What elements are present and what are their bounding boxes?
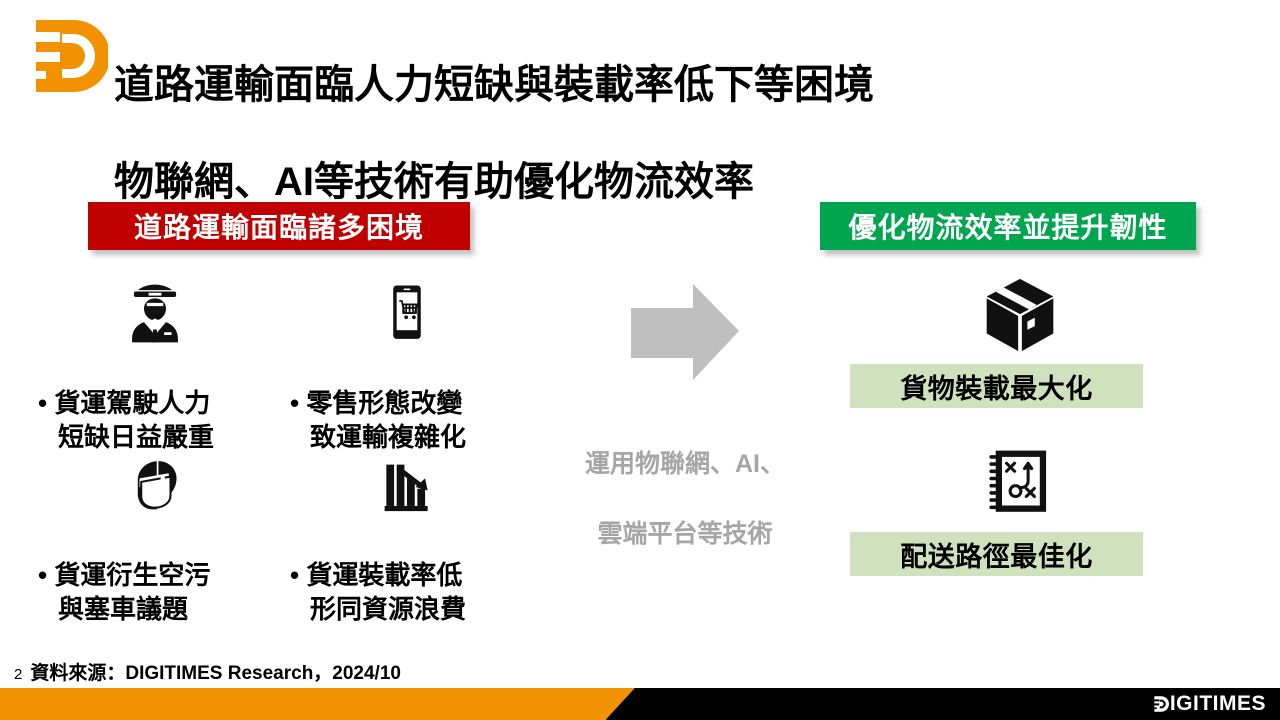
solution-label: 貨物裝載最大化 [850,364,1143,408]
footer-brand-logo: IGITIMES [1152,692,1266,716]
solution-item: 配送路徑最佳化 [850,440,1190,576]
truck-driver-icon [30,272,280,346]
solutions-banner-label: 優化物流效率並提升韌性 [848,206,1167,246]
problem-text-line-1: • 貨運裝載率低 [290,560,462,590]
page-number: 2 [14,666,22,683]
problem-text: • 貨運裝載率低 形同資源浪費 [282,526,532,659]
problem-item: • 貨運駕駛人力 短缺日益嚴重 [30,272,280,442]
solution-label-text: 配送路徑最佳化 [900,535,1093,574]
slide-header: 道路運輸面臨人力短缺與裝載率低下等困境 物聯網、AI等技術有助優化物流效率 [0,0,1280,130]
transition-caption-line-2: 雲端平台等技術 [597,520,772,548]
problems-banner-label: 道路運輸面臨諸多困境 [134,206,424,246]
solution-item: 貨物裝載最大化 [850,272,1190,408]
problems-banner: 道路運輸面臨諸多困境 [88,202,470,250]
package-box-icon [850,272,1190,358]
smartphone-shopping-cart-icon [282,272,532,346]
footer-bar: IGITIMES [0,688,1280,720]
problems-grid: • 貨運駕駛人力 短缺日益嚴重 [20,272,540,612]
digitimes-d-logo-icon [22,12,108,100]
solution-label: 配送路徑最佳化 [850,532,1143,576]
solution-label-text: 貨物裝載最大化 [900,367,1093,406]
solutions-banner: 優化物流效率並提升韌性 [820,202,1196,250]
route-optimization-icon [850,440,1190,526]
problem-text-line-1: • 零售形態改變 [290,388,462,418]
problem-text: • 貨運衍生空污 與塞車議題 [30,526,280,659]
problem-item: • 貨運衍生空污 與塞車議題 [30,444,280,614]
problem-item: • 貨運裝載率低 形同資源浪費 [282,444,532,614]
transition-caption: 運用物聯網、AI、 雲端平台等技術 [560,412,810,552]
face-mask-icon [30,444,280,518]
problem-text-line-2: 與塞車議題 [38,593,280,626]
footer-brand-text: IGITIMES [1170,692,1266,716]
declining-bar-chart-icon [282,444,532,518]
source-text: 資料來源：DIGITIMES Research，2024/10 [30,658,401,685]
problem-text-line-1: • 貨運衍生空污 [38,560,210,590]
problem-item: • 零售形態改變 致運輸複雜化 [282,272,532,442]
transition-caption-line-1: 運用物聯網、AI、 [585,450,785,478]
transition-block: 運用物聯網、AI、 雲端平台等技術 [560,280,810,552]
source-line: 2 資料來源：DIGITIMES Research，2024/10 [14,658,401,685]
problem-text-line-1: • 貨運駕駛人力 [38,388,210,418]
page-title-line-2: 物聯網、AI等技術有助優化物流效率 [114,158,1214,207]
digitimes-d-logo-icon [1152,693,1169,715]
slide: 道路運輸面臨人力短缺與裝載率低下等困境 物聯網、AI等技術有助優化物流效率 道路… [0,0,1280,720]
page-title-line-1: 道路運輸面臨人力短缺與裝載率低下等困境 [114,61,1214,110]
right-arrow-icon [560,280,810,390]
problem-text-line-2: 形同資源浪費 [290,593,532,626]
footer-bar-orange [0,688,650,720]
